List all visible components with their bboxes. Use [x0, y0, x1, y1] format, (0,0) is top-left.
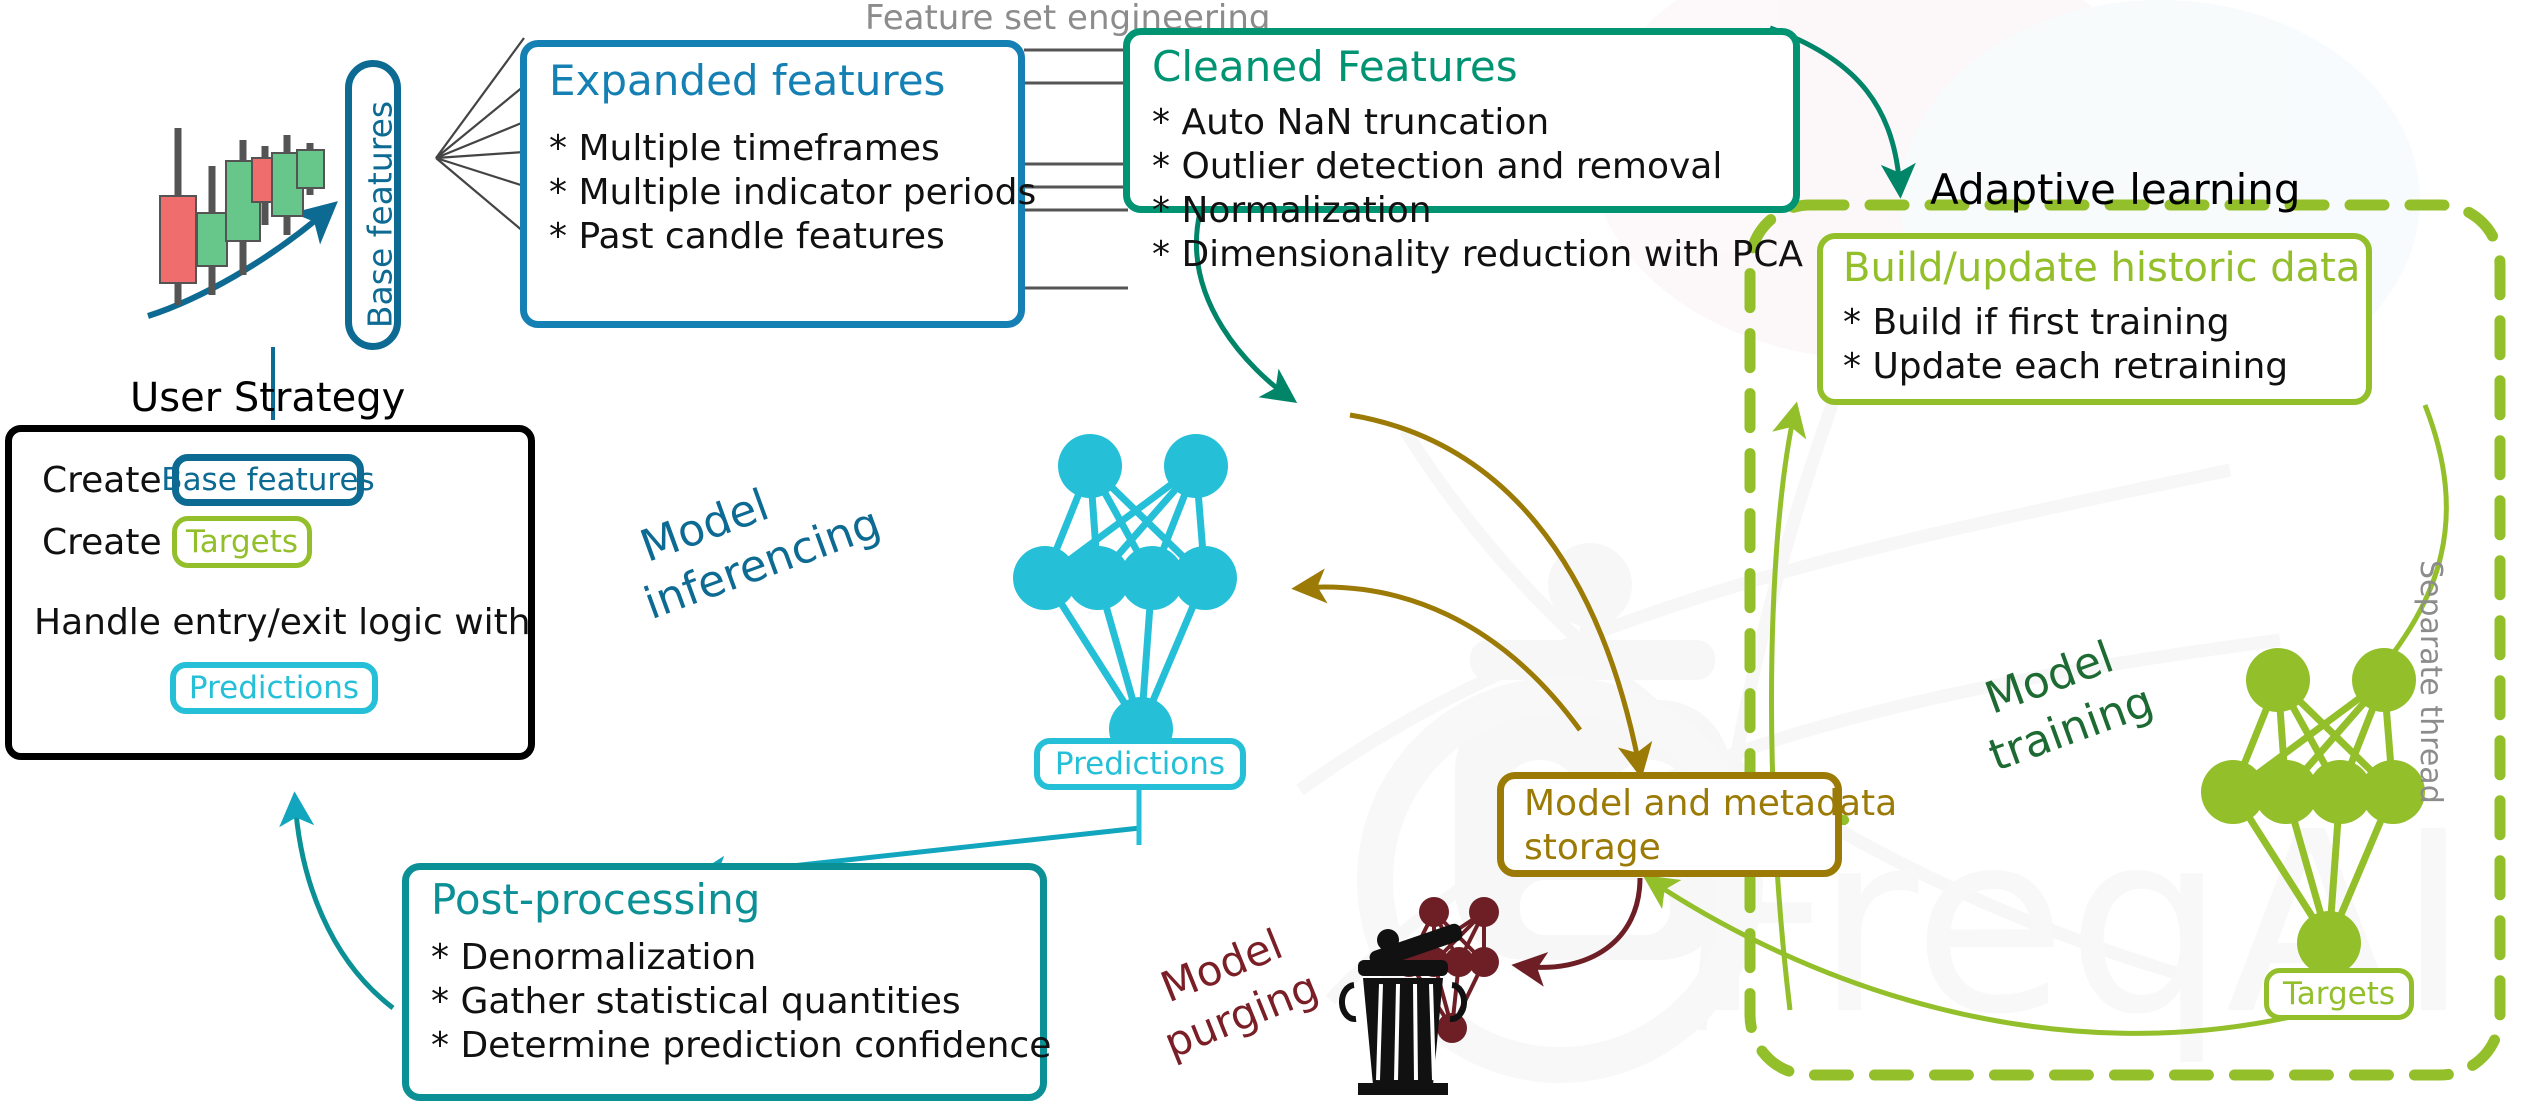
predictions-pill-label: Predictions — [1055, 746, 1225, 782]
user-strategy-targets-pill-label: Targets — [186, 524, 298, 560]
cleaned-features-title: Cleaned Features — [1152, 45, 1518, 89]
diagram-canvas: FreqAI — [0, 0, 2539, 1104]
cleaned-features-bullet: * Auto NaN truncation — [1152, 101, 1803, 145]
user-strategy-entry-exit-text: Handle entry/exit logic with — [34, 602, 531, 643]
build-update-historic-data-box[interactable]: Build/update historic data * Build if fi… — [1817, 233, 2372, 405]
storage-title-line2: storage — [1524, 827, 1661, 868]
user-strategy-heading: User Strategy — [130, 375, 405, 421]
cleaned-features-box[interactable]: Cleaned Features * Auto NaN truncation *… — [1123, 28, 1800, 213]
expanded-features-bullet: * Multiple indicator periods — [549, 171, 1036, 215]
cleaned-features-bullet: * Dimensionality reduction with PCA — [1152, 233, 1803, 277]
user-strategy-targets-pill[interactable]: Targets — [172, 516, 312, 568]
cleaned-features-bullet: * Normalization — [1152, 189, 1803, 233]
user-strategy-predictions-pill[interactable]: Predictions — [170, 662, 378, 714]
post-processing-bullet: * Denormalization — [431, 936, 1051, 980]
targets-pill[interactable]: Targets — [2264, 968, 2414, 1020]
build-update-title: Build/update historic data — [1843, 245, 2360, 291]
user-strategy-create-label-1: Create — [42, 460, 162, 501]
storage-title-line1: Model and metadata — [1524, 783, 1897, 824]
post-processing-title: Post-processing — [431, 878, 760, 922]
model-metadata-storage-box[interactable]: Model and metadata storage — [1497, 772, 1842, 877]
expanded-features-bullet: * Multiple timeframes — [549, 127, 1036, 171]
expanded-features-box[interactable]: Expanded features * Multiple timeframes … — [520, 40, 1025, 328]
fan-lines-base-to-expanded — [436, 38, 524, 232]
build-update-bullet: * Update each retraining — [1843, 345, 2288, 389]
post-processing-box[interactable]: Post-processing * Denormalization * Gath… — [402, 863, 1047, 1101]
connector-rungs-expanded-to-cleaned — [1024, 50, 1128, 288]
inference-network-icon — [1013, 434, 1237, 761]
user-strategy-predictions-pill-label: Predictions — [189, 670, 359, 706]
user-strategy-base-features-pill-label: Base features — [161, 462, 374, 498]
arrow-postprocessing-to-strategy — [295, 800, 393, 1008]
base-features-pill[interactable]: Base features — [345, 60, 401, 350]
post-processing-bullet: * Gather statistical quantities — [431, 980, 1051, 1024]
candlestick-chart — [160, 128, 324, 305]
user-strategy-base-features-pill[interactable]: Base features — [172, 454, 364, 506]
cleaned-features-bullet: * Outlier detection and removal — [1152, 145, 1803, 189]
separate-thread-label: Separate thread — [2413, 560, 2448, 820]
expanded-features-bullet: * Past candle features — [549, 215, 1036, 259]
post-processing-bullet: * Determine prediction confidence — [431, 1024, 1051, 1068]
adaptive-learning-label: Adaptive learning — [1930, 165, 2301, 214]
targets-pill-label: Targets — [2283, 976, 2395, 1012]
expanded-features-title: Expanded features — [549, 59, 945, 103]
build-update-bullet: * Build if first training — [1843, 301, 2288, 345]
user-strategy-box[interactable]: Create Base features Create Targets Hand… — [5, 425, 535, 760]
base-features-pill-label: Base features — [361, 72, 400, 358]
predictions-pill[interactable]: Predictions — [1034, 738, 1246, 790]
user-strategy-create-label-2: Create — [42, 522, 162, 563]
